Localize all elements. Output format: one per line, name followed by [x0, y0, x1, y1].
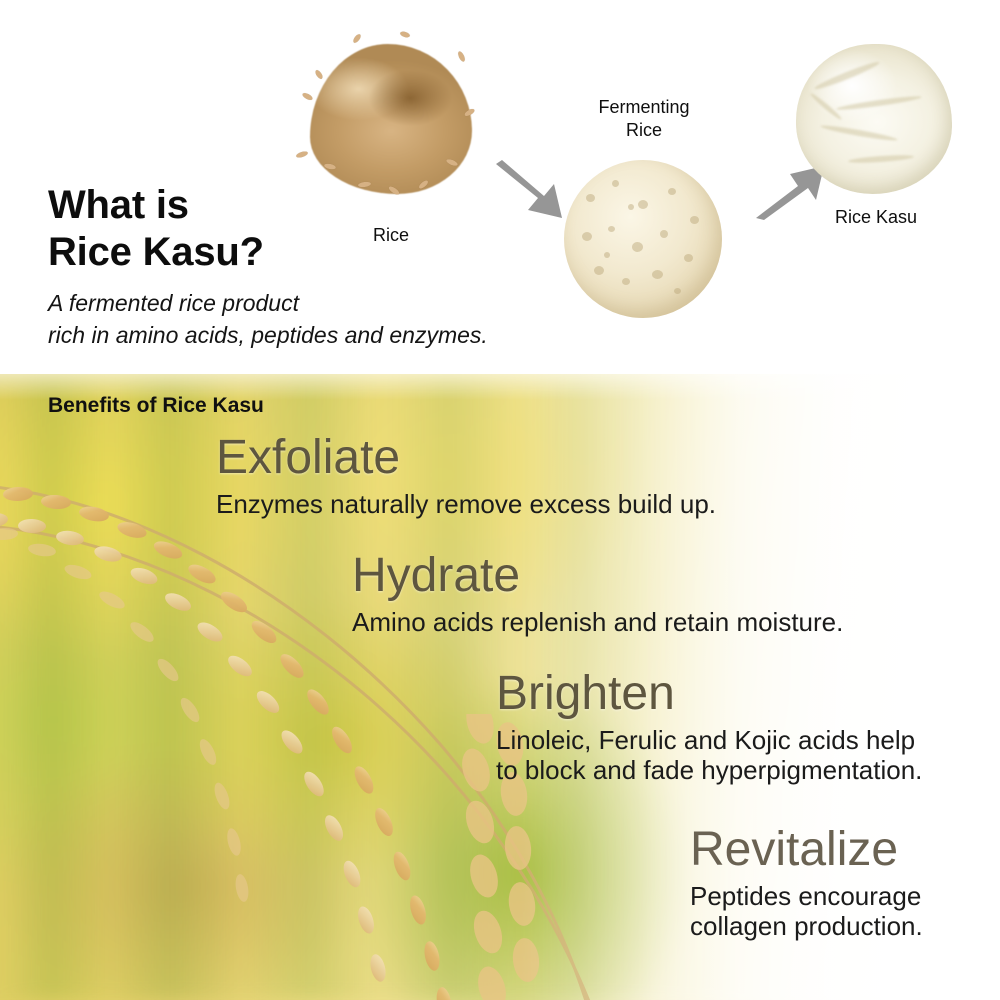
- benefits-section: Benefits of Rice Kasu Exfoliate Enzymes …: [0, 374, 1000, 1000]
- fermenting-rice-image: [564, 160, 722, 318]
- rice-grain: [457, 50, 466, 62]
- ball-pore: [612, 180, 619, 187]
- ball-pore: [594, 266, 604, 275]
- kasu-streak: [820, 123, 898, 142]
- rice-grain: [296, 150, 309, 158]
- kasu-streak: [836, 94, 922, 112]
- kasu-streak: [813, 59, 881, 92]
- ball-pore: [684, 254, 693, 262]
- ball-pore: [660, 230, 668, 238]
- rice-grain: [301, 92, 313, 102]
- benefit-item-brighten: Brighten Linoleic, Ferulic and Kojic aci…: [496, 670, 922, 785]
- stage-label-rice-kasu: Rice Kasu: [816, 206, 936, 229]
- page-title: What is Rice Kasu?: [48, 182, 264, 276]
- ball-pore: [608, 226, 615, 232]
- ball-pore: [690, 216, 699, 224]
- benefit-item-exfoliate: Exfoliate Enzymes naturally remove exces…: [216, 434, 716, 519]
- stage-label-fermenting-rice: Fermenting Rice: [584, 96, 704, 141]
- what-is-rice-kasu-section: What is Rice Kasu? A fermented rice prod…: [0, 0, 1000, 374]
- ball-pore: [674, 288, 681, 294]
- ball-pore: [668, 188, 676, 195]
- rice-pile-image: [296, 32, 486, 212]
- benefit-title: Exfoliate: [216, 434, 716, 482]
- page-subtitle: A fermented rice product rich in amino a…: [48, 288, 488, 351]
- ball-pore: [622, 278, 630, 285]
- benefit-description: Peptides encourage collagen production.: [690, 881, 923, 941]
- benefits-header: Benefits of Rice Kasu: [48, 394, 264, 418]
- rice-mound-shape: [310, 44, 472, 194]
- ball-pore: [638, 200, 648, 209]
- ball-pore: [652, 270, 663, 279]
- rice-grain: [352, 33, 362, 44]
- kasu-streak: [809, 92, 843, 122]
- benefit-description: Linoleic, Ferulic and Kojic acids help t…: [496, 725, 922, 785]
- infographic-page: What is Rice Kasu? A fermented rice prod…: [0, 0, 1000, 1000]
- ball-pore: [628, 204, 634, 210]
- benefit-description: Amino acids replenish and retain moistur…: [352, 607, 843, 637]
- rice-kasu-image: [796, 44, 952, 194]
- benefit-item-revitalize: Revitalize Peptides encourage collagen p…: [690, 826, 923, 941]
- benefit-title: Hydrate: [352, 552, 843, 600]
- ball-pore: [586, 194, 595, 202]
- stage-label-rice: Rice: [336, 224, 446, 247]
- benefit-item-hydrate: Hydrate Amino acids replenish and retain…: [352, 552, 843, 637]
- kasu-streak: [848, 154, 914, 165]
- benefit-title: Revitalize: [690, 826, 923, 874]
- ball-pore: [582, 232, 592, 241]
- rice-grain: [314, 69, 324, 80]
- rice-grain: [399, 31, 410, 39]
- benefit-title: Brighten: [496, 670, 922, 718]
- ball-pore: [632, 242, 643, 252]
- benefit-description: Enzymes naturally remove excess build up…: [216, 489, 716, 519]
- ball-pore: [604, 252, 610, 258]
